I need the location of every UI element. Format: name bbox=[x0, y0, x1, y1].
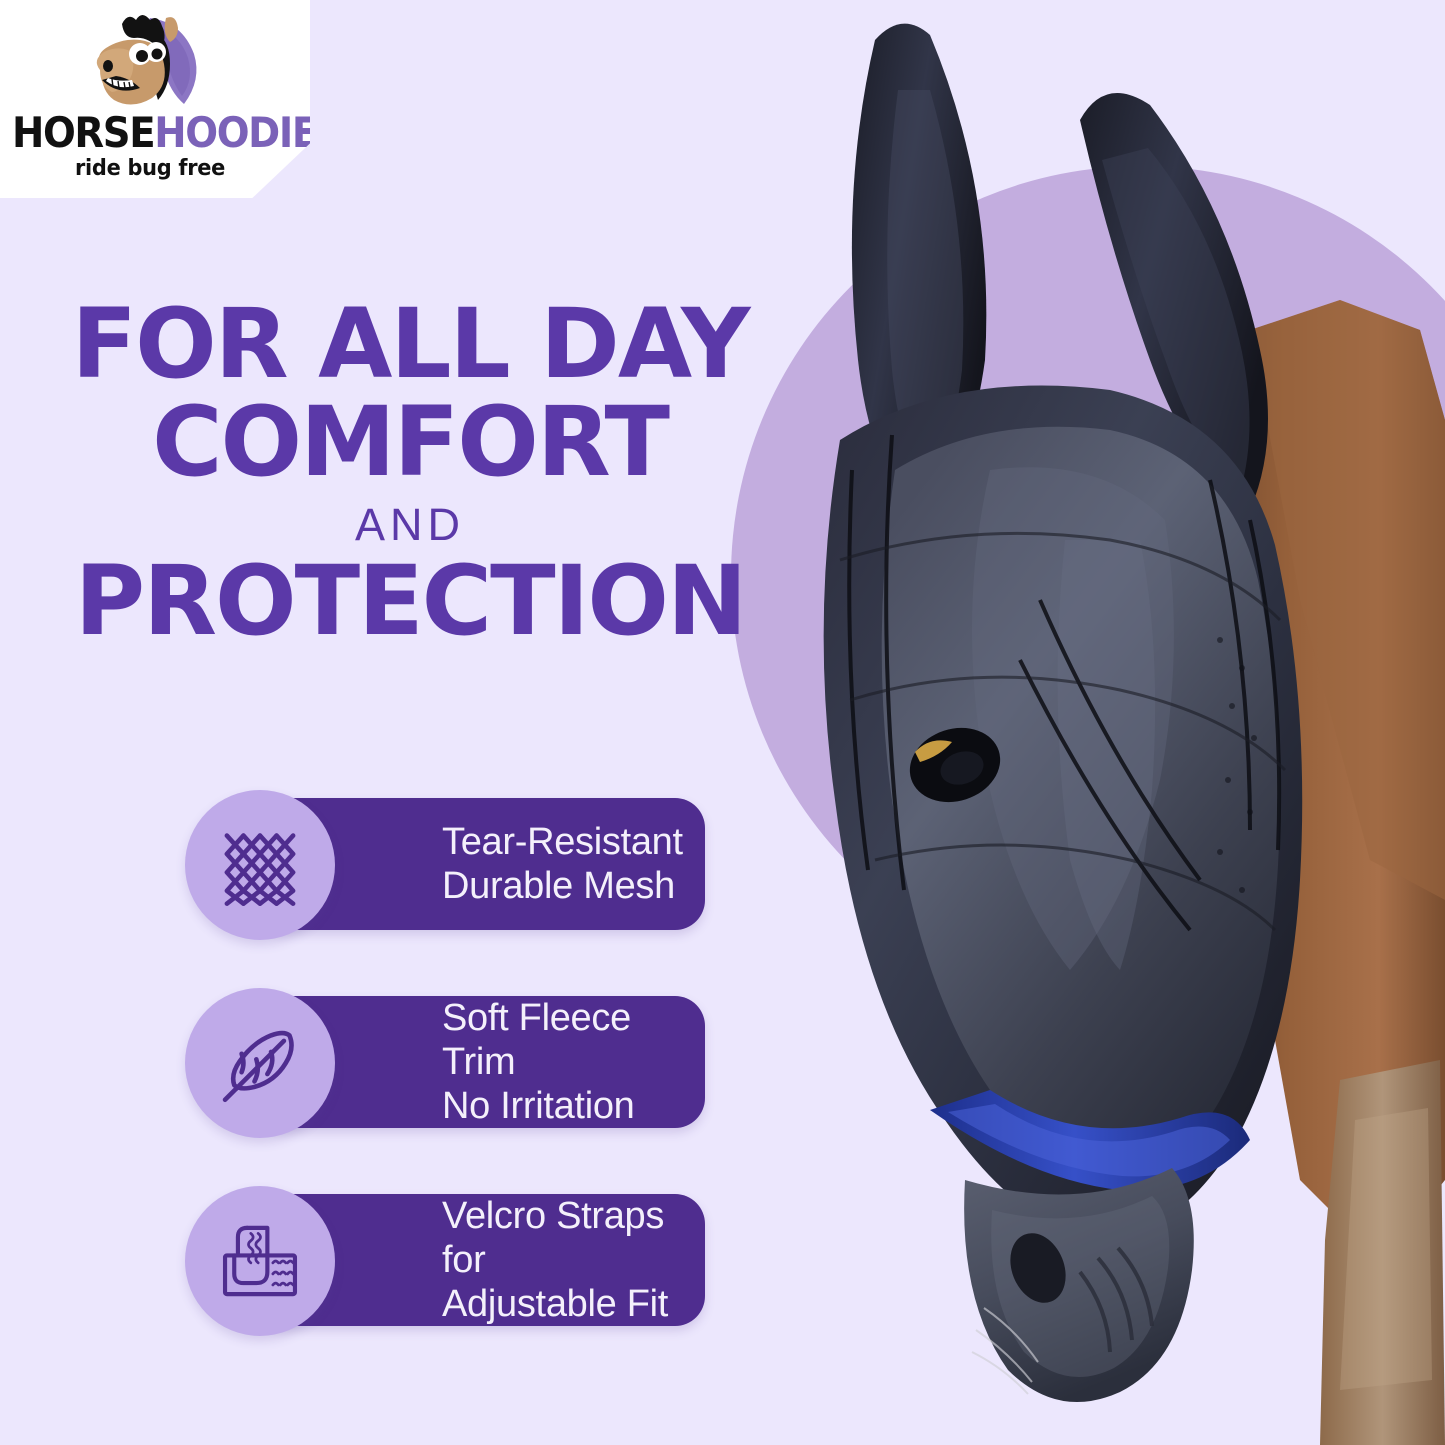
brand-word-hoodies: HOODIES bbox=[154, 108, 343, 157]
headline-line-1: FOR ALL DAY bbox=[0, 300, 820, 388]
page-title: FOR ALL DAY COMFORT AND PROTECTION bbox=[0, 300, 820, 645]
feature-label: Soft Fleece Trim No Irritation bbox=[442, 996, 705, 1128]
feature-label-line-1: Velcro Straps for bbox=[442, 1194, 705, 1282]
brand-wordmark: HORSEHOODIES bbox=[12, 112, 288, 154]
feature-label-line-2: Adjustable Fit bbox=[442, 1282, 705, 1326]
feature-label-line-2: No Irritation bbox=[442, 1084, 705, 1128]
feature-label: Velcro Straps for Adjustable Fit bbox=[442, 1194, 705, 1326]
mesh-lattice-icon bbox=[185, 790, 335, 940]
horse-head-hoodie-icon bbox=[78, 8, 208, 120]
headline-conjunction: AND bbox=[0, 499, 820, 551]
feature-label: Tear-Resistant Durable Mesh bbox=[442, 820, 683, 908]
product-marketing-banner: HORSEHOODIES ride bug free FOR ALL DAY C… bbox=[0, 0, 1445, 1445]
feather-icon bbox=[185, 988, 335, 1138]
feature-list: Tear-Resistant Durable Mesh bbox=[185, 790, 805, 1384]
brand-logo-panel[interactable]: HORSEHOODIES ride bug free bbox=[0, 0, 310, 198]
headline-line-4: PROTECTION bbox=[0, 557, 820, 645]
feature-label-line-1: Tear-Resistant bbox=[442, 820, 683, 864]
velcro-strap-icon bbox=[185, 1186, 335, 1336]
feature-label-line-1: Soft Fleece Trim bbox=[442, 996, 705, 1084]
product-photo-donkey-fly-mask bbox=[780, 0, 1445, 1445]
feature-item-velcro[interactable]: Velcro Straps for Adjustable Fit bbox=[185, 1186, 805, 1336]
feature-item-fleece[interactable]: Soft Fleece Trim No Irritation bbox=[185, 988, 805, 1138]
headline-line-2: COMFORT bbox=[0, 398, 820, 486]
feature-label-line-2: Durable Mesh bbox=[442, 864, 683, 908]
feature-item-mesh[interactable]: Tear-Resistant Durable Mesh bbox=[185, 790, 805, 940]
brand-word-horse: HORSE bbox=[12, 108, 154, 157]
brand-tagline: ride bug free bbox=[8, 156, 293, 181]
